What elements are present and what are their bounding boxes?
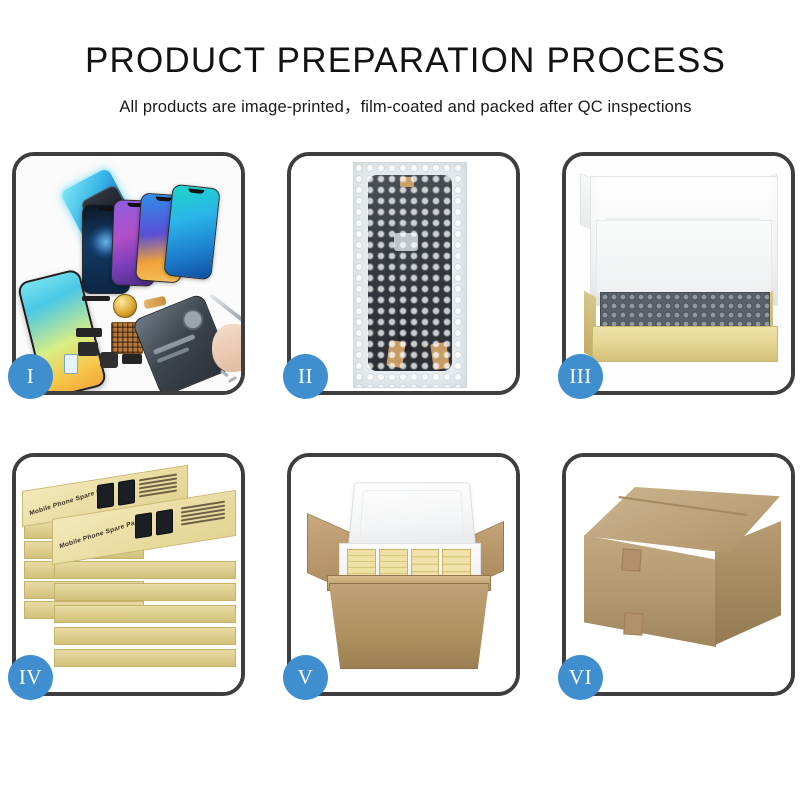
carton-face-left — [584, 535, 716, 647]
flex-cable-f — [122, 354, 142, 364]
step-badge-4: IV — [8, 655, 53, 700]
tape-strip-top — [400, 177, 414, 187]
carton-packing-illustration — [291, 457, 516, 692]
step-1-image — [16, 156, 241, 391]
speaker-component — [113, 294, 137, 318]
step-2-image — [291, 156, 516, 391]
tape-patch-upper — [621, 548, 641, 571]
tape-strip-right — [430, 342, 449, 370]
step-panel-3[interactable]: III — [562, 152, 795, 395]
wrapped-connector — [394, 233, 418, 251]
box-stack-illustration: Mobile Phone Spare Parts — [16, 457, 241, 692]
bubble-wrap-bag — [353, 162, 467, 388]
tape-patch-lower — [623, 612, 643, 635]
box-product-image — [97, 482, 114, 509]
step-badge-1: I — [8, 354, 53, 399]
camera-lens — [179, 306, 206, 333]
carton-body — [329, 583, 489, 669]
page-header: PRODUCT PREPARATION PROCESS All products… — [0, 0, 811, 117]
step-panel-6[interactable]: VI — [562, 453, 795, 696]
step-badge-6: VI — [558, 655, 603, 700]
inner-box-illustration — [566, 156, 791, 391]
notch — [188, 188, 204, 194]
lid-fold-line — [606, 218, 760, 221]
page-subtitle: All products are image-printed，film-coat… — [0, 93, 811, 117]
technician-hand — [212, 324, 241, 372]
stack-layer-f-4 — [54, 627, 236, 645]
parts-collage-illustration — [16, 156, 241, 391]
box-product-image — [135, 512, 152, 539]
phone-teal — [163, 184, 220, 281]
stack-layer-f-5 — [54, 649, 236, 667]
page-title: PRODUCT PREPARATION PROCESS — [0, 43, 811, 78]
bubble-wrap-illustration — [291, 156, 516, 391]
gold-tray-front — [592, 326, 778, 362]
flex-cable-a — [82, 296, 110, 301]
flex-cable-c — [76, 328, 102, 337]
stack-layer-f-2 — [54, 583, 236, 601]
step-panel-2[interactable]: II — [287, 152, 520, 395]
stack-layer-f-1 — [54, 561, 236, 579]
step-4-image: Mobile Phone Spare Parts — [16, 457, 241, 692]
small-part-white — [64, 354, 78, 374]
step-badge-2: II — [283, 354, 328, 399]
tweezers-tool — [209, 293, 241, 322]
step-3-image — [566, 156, 791, 391]
step-6-image — [566, 457, 791, 692]
step-5-image — [291, 457, 516, 692]
process-steps-grid: I II — [12, 152, 801, 696]
box-product-image — [118, 479, 135, 506]
sealed-carton-illustration — [566, 457, 791, 692]
step-panel-4[interactable]: Mobile Phone Spare Parts — [12, 453, 245, 696]
notch — [156, 197, 172, 202]
step-panel-5[interactable]: V — [287, 453, 520, 696]
bubble-wrap-in-tray — [600, 292, 770, 330]
step-badge-5: V — [283, 655, 328, 700]
flex-cable-d — [78, 342, 98, 356]
stack-layer-f-3 — [54, 605, 236, 623]
flex-cable-e — [100, 352, 118, 368]
screw-2 — [228, 376, 237, 383]
white-foam-sheet — [596, 220, 772, 294]
step-badge-3: III — [558, 354, 603, 399]
notch — [98, 207, 114, 211]
step-panel-1[interactable]: I — [12, 152, 245, 395]
box-product-image — [156, 509, 173, 536]
